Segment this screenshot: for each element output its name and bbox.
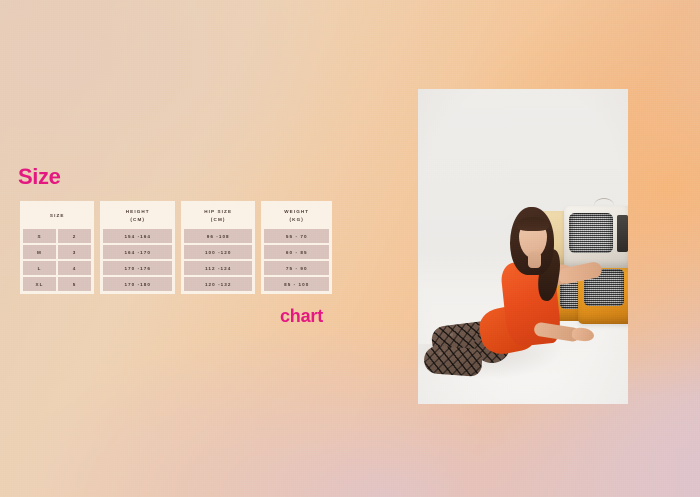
table-column-height: HEIGHT (CM) 154 -164 164 -170 170 -176 1…	[100, 201, 174, 294]
table-row: 75 - 90	[264, 261, 329, 275]
table-row: 170 -176	[103, 261, 171, 275]
cell-number-xl: 5	[58, 277, 91, 291]
table-row: 100 -120	[184, 245, 252, 259]
column-header-height: HEIGHT (CM)	[103, 204, 171, 227]
cell-number-m: 3	[58, 245, 91, 259]
table-row: L 4	[23, 261, 91, 275]
cell-number-s: 2	[58, 229, 91, 243]
table-column-weight: WEIGHT (KG) 55 - 70 60 - 85 75 - 90 85 -…	[261, 201, 332, 294]
table-row: S 2	[23, 229, 91, 243]
table-row: 55 - 70	[264, 229, 329, 243]
column-header-size: SIZE	[23, 204, 91, 227]
cell-number-l: 4	[58, 261, 91, 275]
cell-size-s: S	[23, 229, 56, 243]
table-row: M 3	[23, 245, 91, 259]
cell-hip-m: 100 -120	[184, 245, 252, 259]
cell-size-xl: XL	[23, 277, 56, 291]
size-chart-page: Size chart SIZE S 2 M 3 L 4 XL 5	[0, 0, 700, 497]
cell-hip-xl: 120 -132	[184, 277, 252, 291]
size-chart-table: SIZE S 2 M 3 L 4 XL 5 HEIGHT (CM)	[20, 201, 332, 294]
table-row: 120 -132	[184, 277, 252, 291]
cell-height-xl: 170 -180	[103, 277, 171, 291]
column-header-height-line2: (CM)	[130, 216, 145, 223]
column-header-hip-size: HIP SIZE (CM)	[184, 204, 252, 227]
column-header-height-line1: HEIGHT	[126, 208, 150, 215]
photo-content	[418, 89, 628, 404]
table-row: 164 -170	[103, 245, 171, 259]
table-column-size: SIZE S 2 M 3 L 4 XL 5	[20, 201, 94, 294]
column-header-weight-line1: WEIGHT	[284, 208, 309, 215]
cell-weight-m: 60 - 85	[264, 245, 329, 259]
table-row: 170 -180	[103, 277, 171, 291]
cell-height-m: 164 -170	[103, 245, 171, 259]
column-header-weight-line2: (KG)	[290, 216, 304, 223]
cell-size-l: L	[23, 261, 56, 275]
cell-height-s: 154 -164	[103, 229, 171, 243]
column-header-hip-line1: HIP SIZE	[204, 208, 232, 215]
cell-weight-s: 55 - 70	[264, 229, 329, 243]
column-header-hip-line2: (CM)	[211, 216, 226, 223]
table-row: 60 - 85	[264, 245, 329, 259]
table-row: 154 -164	[103, 229, 171, 243]
page-title-size: Size	[18, 166, 60, 188]
table-row: 96 -108	[184, 229, 252, 243]
page-title-chart: chart	[280, 307, 323, 325]
table-column-hip-size: HIP SIZE (CM) 96 -108 100 -120 112 -124 …	[181, 201, 255, 294]
table-row: XL 5	[23, 277, 91, 291]
cell-hip-s: 96 -108	[184, 229, 252, 243]
table-row: 112 -124	[184, 261, 252, 275]
table-row: 85 - 100	[264, 277, 329, 291]
cell-weight-xl: 85 - 100	[264, 277, 329, 291]
cell-height-l: 170 -176	[103, 261, 171, 275]
column-header-size-line1: SIZE	[50, 212, 65, 219]
column-header-weight: WEIGHT (KG)	[264, 204, 329, 227]
cell-size-m: M	[23, 245, 56, 259]
cell-weight-l: 75 - 90	[264, 261, 329, 275]
photo-vignette	[418, 89, 628, 404]
editorial-photo	[418, 89, 628, 404]
cell-hip-l: 112 -124	[184, 261, 252, 275]
